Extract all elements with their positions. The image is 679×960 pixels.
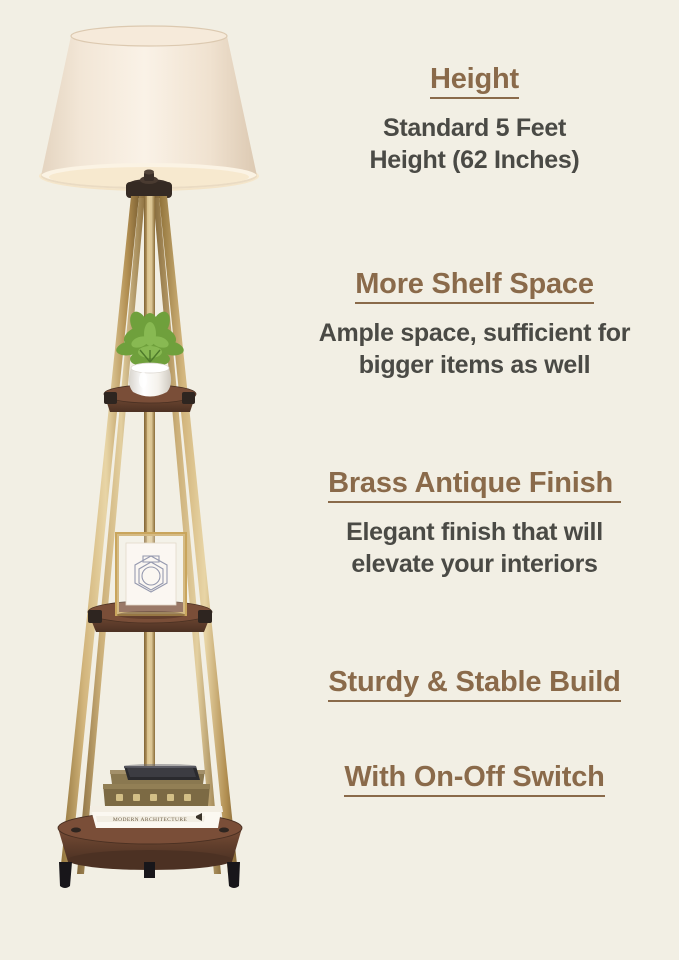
feature-heading-brass-antique-finish: Brass Antique Finish xyxy=(328,466,621,503)
feature-body-brass-antique-finish: Elegant finish that will elevate your in… xyxy=(270,517,679,580)
feature-sturdy-stable-build: Sturdy & Stable Build xyxy=(270,665,679,702)
feature-body-line: Height (62 Inches) xyxy=(270,145,679,177)
feature-heading-with-on-off-switch: With On-Off Switch xyxy=(344,760,604,797)
feature-body-more-shelf-space: Ample space, sufficient for bigger items… xyxy=(270,318,679,381)
smartphone xyxy=(124,764,200,780)
feature-body-line: elevate your interiors xyxy=(270,549,679,581)
feature-heading-height: Height xyxy=(430,62,519,99)
feature-heading-more-shelf-space: More Shelf Space xyxy=(355,267,594,304)
feature-height: Height Standard 5 Feet Height (62 Inches… xyxy=(270,62,679,176)
feature-body-line: Elegant finish that will xyxy=(270,517,679,549)
feature-brass-antique-finish: Brass Antique Finish Elegant finish that… xyxy=(270,466,679,580)
feature-heading-sturdy-stable-build: Sturdy & Stable Build xyxy=(328,665,620,702)
lampshade xyxy=(39,26,259,191)
feature-body-line: bigger items as well xyxy=(270,350,679,382)
feature-body-line: Ample space, sufficient for xyxy=(270,318,679,350)
product-feature-infographic: MODERN ARCHITECTURE xyxy=(0,0,679,960)
feature-more-shelf-space: More Shelf Space Ample space, sufficient… xyxy=(270,267,679,381)
feature-with-on-off-switch: With On-Off Switch xyxy=(270,760,679,797)
feature-body-height: Standard 5 Feet Height (62 Inches) xyxy=(270,113,679,176)
picture-frame xyxy=(117,534,185,619)
product-image: MODERN ARCHITECTURE xyxy=(0,0,290,960)
feature-list: Height Standard 5 Feet Height (62 Inches… xyxy=(270,0,679,960)
svg-text:MODERN ARCHITECTURE: MODERN ARCHITECTURE xyxy=(113,817,188,823)
feature-body-line: Standard 5 Feet xyxy=(270,113,679,145)
